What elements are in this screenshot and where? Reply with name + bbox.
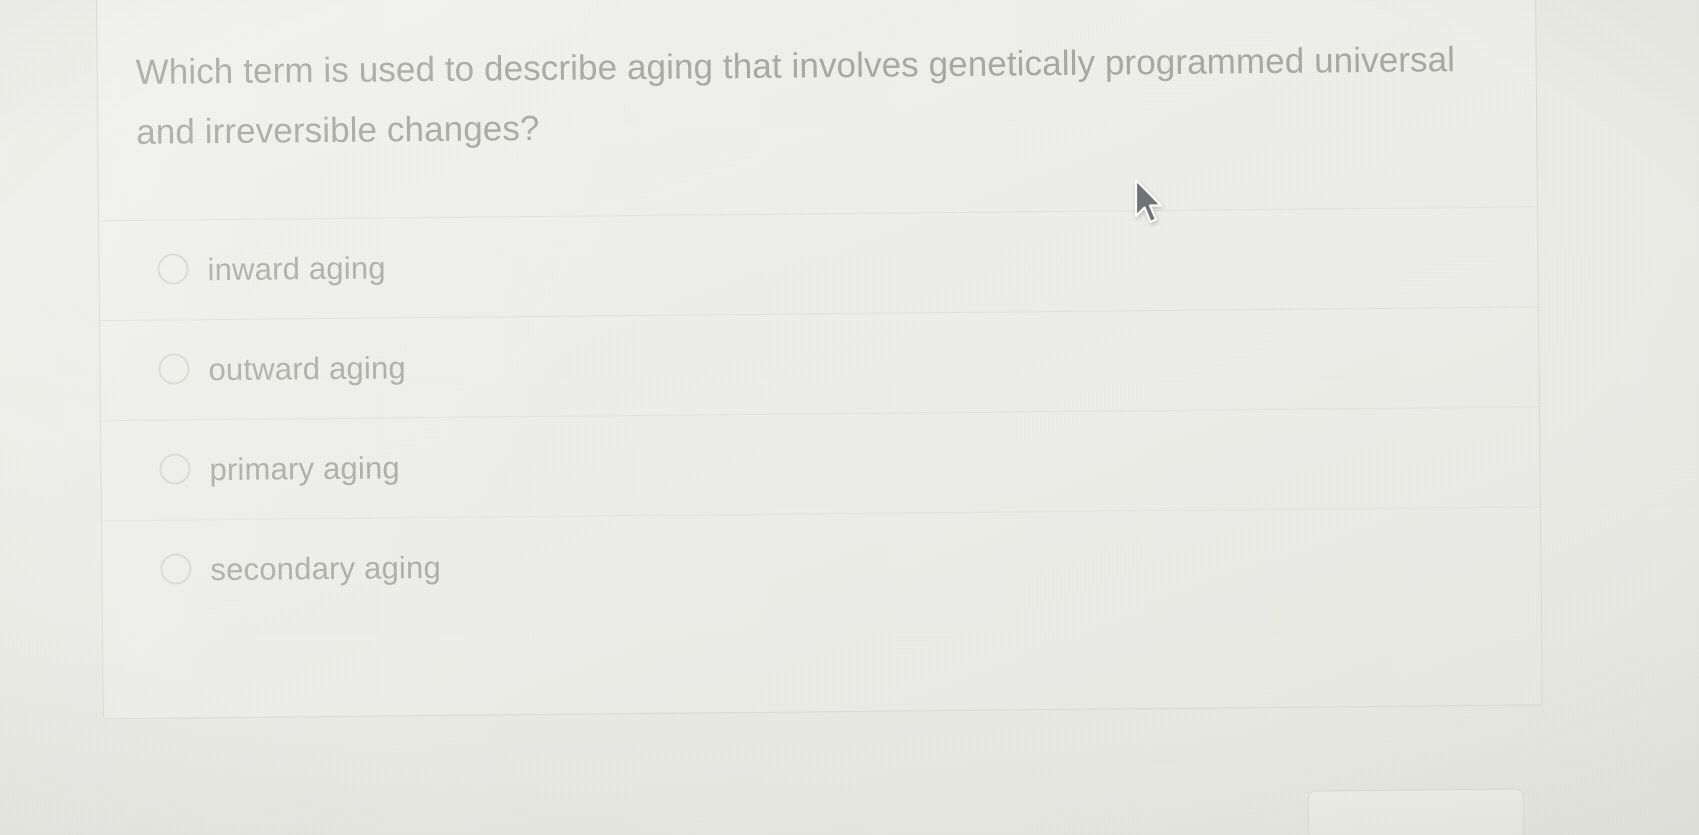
answer-options-list: inward aging outward aging primary aging… [99,206,1541,620]
option-row-primary-aging[interactable]: primary aging [101,406,1540,520]
radio-unchecked-icon[interactable] [159,453,190,484]
radio-unchecked-icon[interactable] [160,553,191,584]
radio-unchecked-icon[interactable] [158,353,189,384]
screen-content-tilt-wrapper: Which term is used to describe aging tha… [0,0,1699,835]
option-row-outward-aging[interactable]: outward aging [100,306,1539,420]
option-label: secondary aging [210,547,441,589]
radio-unchecked-icon[interactable] [157,253,188,284]
screenshot-root: Which term is used to describe aging tha… [0,0,1699,835]
question-card: Which term is used to describe aging tha… [95,0,1542,719]
option-label: outward aging [208,348,406,390]
question-text: Which term is used to describe aging tha… [135,30,1466,163]
option-label: inward aging [207,248,386,290]
option-row-inward-aging[interactable]: inward aging [99,206,1538,320]
option-label: primary aging [209,448,400,490]
option-row-secondary-aging[interactable]: secondary aging [102,506,1541,620]
submit-button[interactable] [1308,789,1525,835]
